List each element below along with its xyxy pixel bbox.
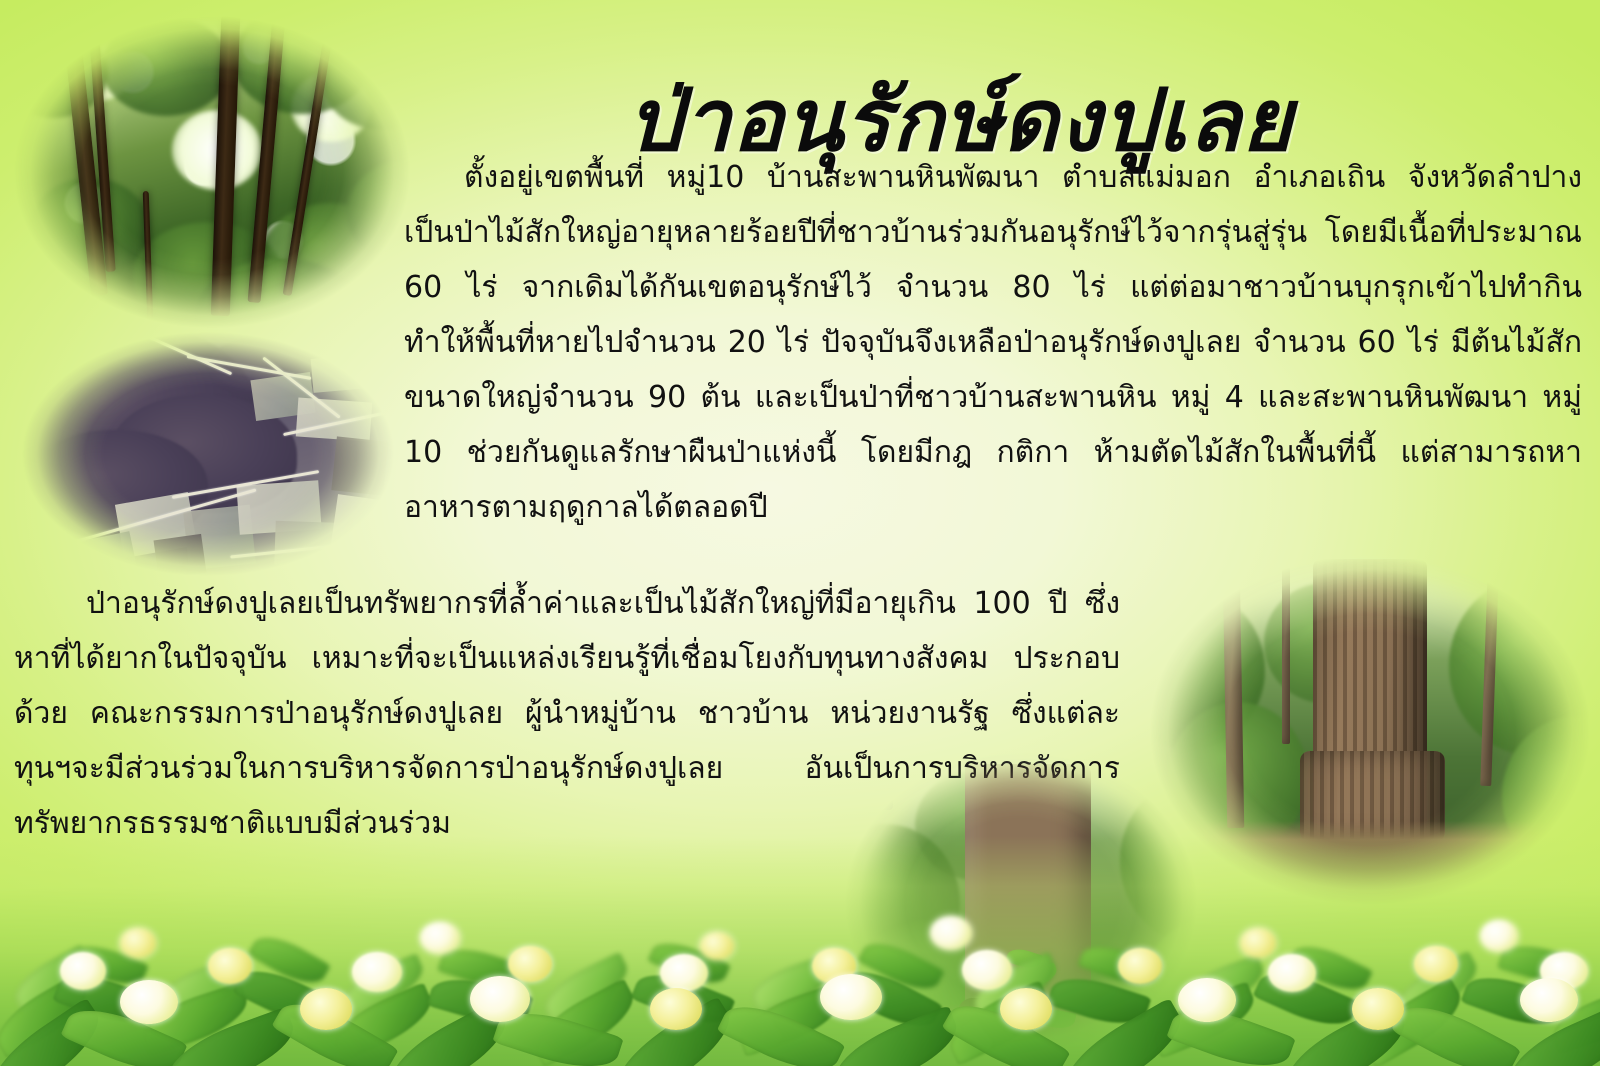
tree-measuring-photo (845, 752, 1197, 1052)
forest-canopy-image (14, 16, 410, 328)
satellite-map-image (22, 332, 394, 576)
group-at-teak-tree-photo (1150, 555, 1590, 905)
tree-measuring-image (845, 752, 1197, 1052)
group-at-teak-tree-image (1150, 555, 1590, 905)
poster-canvas: ป่าอนุรักษ์ดงปูเลย ตั้งอยู่เขตพื้นที่ หม… (0, 0, 1600, 1066)
intro-paragraph: ตั้งอยู่เขตพื้นที่ หมู่10 บ้านสะพานหินพั… (404, 150, 1582, 535)
satellite-map-photo (22, 332, 394, 576)
forest-canopy-photo (14, 16, 410, 328)
